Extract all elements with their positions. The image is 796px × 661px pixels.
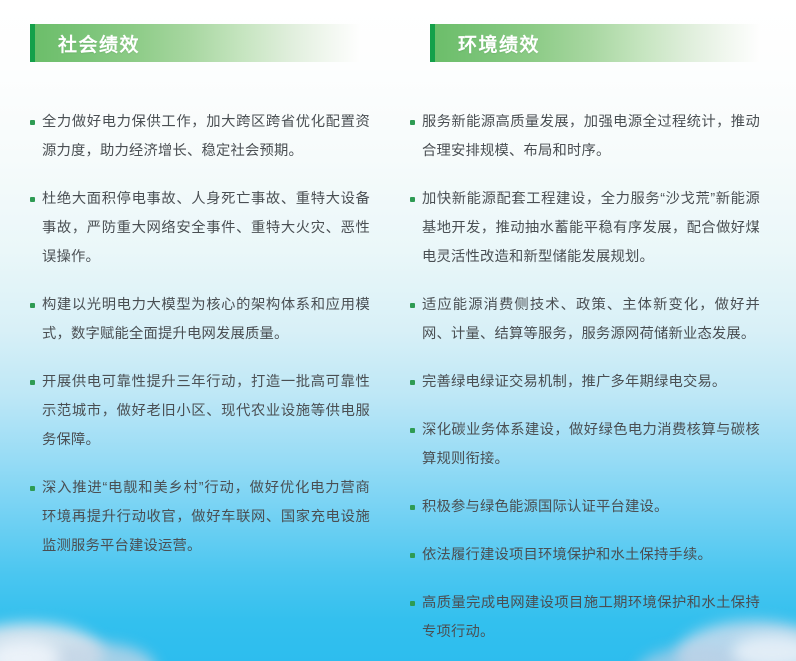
list-item: 加快新能源配套工程建设，全力服务“沙戈荒”新能源基地开发，推动抽水蓄能平稳有序发…	[410, 185, 760, 272]
section-header-environmental: 环境绩效	[430, 24, 760, 62]
list-item-text: 完善绿电绿证交易机制，推广多年期绿电交易。	[422, 374, 726, 390]
list-item-text: 深入推进“电靓和美乡村”行动，做好优化电力营商环境再提升行动收官，做好车联网、国…	[42, 480, 370, 554]
bullet-dot-icon	[410, 601, 415, 606]
column-social-performance: 社会绩效 全力做好电力保供工作，加大跨区跨省优化配置资源力度，助力经济增长、稳定…	[0, 0, 398, 661]
header-gradient-band: 社会绩效	[35, 24, 360, 62]
list-item-text: 服务新能源高质量发展，加强电源全过程统计，推动合理安排规模、布局和时序。	[422, 114, 760, 159]
bullet-dot-icon	[30, 380, 35, 385]
section-title-environmental: 环境绩效	[458, 30, 540, 57]
list-item-text: 依法履行建设项目环境保护和水土保持手续。	[422, 547, 712, 563]
list-item-text: 高质量完成电网建设项目施工期环境保护和水土保持专项行动。	[422, 595, 760, 640]
list-item: 服务新能源高质量发展，加强电源全过程统计，推动合理安排规模、布局和时序。	[410, 108, 760, 166]
bullet-dot-icon	[410, 553, 415, 558]
bullet-dot-icon	[410, 197, 415, 202]
bullet-list-environmental: 服务新能源高质量发展，加强电源全过程统计，推动合理安排规模、布局和时序。 加快新…	[410, 108, 760, 661]
bullet-list-social: 全力做好电力保供工作，加大跨区跨省优化配置资源力度，助力经济增长、稳定社会预期。…	[30, 108, 370, 561]
bullet-dot-icon	[410, 380, 415, 385]
list-item-text: 开展供电可靠性提升三年行动，打造一批高可靠性示范城市，做好老旧小区、现代农业设施…	[42, 374, 370, 448]
bullet-dot-icon	[410, 428, 415, 433]
list-item: 适应能源消费侧技术、政策、主体新变化，做好并网、计量、结算等服务，服务源网荷储新…	[410, 291, 760, 349]
bullet-dot-icon	[30, 303, 35, 308]
list-item: 深入推进“电靓和美乡村”行动，做好优化电力营商环境再提升行动收官，做好车联网、国…	[30, 474, 370, 561]
bullet-dot-icon	[410, 120, 415, 125]
list-item: 全力做好电力保供工作，加大跨区跨省优化配置资源力度，助力经济增长、稳定社会预期。	[30, 108, 370, 166]
bullet-dot-icon	[410, 303, 415, 308]
bullet-dot-icon	[410, 505, 415, 510]
list-item-text: 积极参与绿色能源国际认证平台建设。	[422, 499, 668, 515]
list-item-text: 深化碳业务体系建设，做好绿色电力消费核算与碳核算规则衔接。	[422, 422, 760, 467]
list-item: 开展供电可靠性提升三年行动，打造一批高可靠性示范城市，做好老旧小区、现代农业设施…	[30, 368, 370, 455]
bullet-dot-icon	[30, 120, 35, 125]
list-item-text: 适应能源消费侧技术、政策、主体新变化，做好并网、计量、结算等服务，服务源网荷储新…	[422, 297, 760, 342]
list-item: 杜绝大面积停电事故、人身死亡事故、重特大设备事故，严防重大网络安全事件、重特大火…	[30, 185, 370, 272]
bullet-dot-icon	[30, 486, 35, 491]
report-page: 社会绩效 全力做好电力保供工作，加大跨区跨省优化配置资源力度，助力经济增长、稳定…	[0, 0, 796, 661]
header-gradient-band: 环境绩效	[435, 24, 760, 62]
list-item: 完善绿电绿证交易机制，推广多年期绿电交易。	[410, 368, 760, 397]
list-item: 积极参与绿色能源国际认证平台建设。	[410, 493, 760, 522]
list-item-text: 全力做好电力保供工作，加大跨区跨省优化配置资源力度，助力经济增长、稳定社会预期。	[42, 114, 370, 159]
list-item: 深化碳业务体系建设，做好绿色电力消费核算与碳核算规则衔接。	[410, 416, 760, 474]
list-item-text: 构建以光明电力大模型为核心的架构体系和应用模式，数字赋能全面提升电网发展质量。	[42, 297, 370, 342]
section-title-social: 社会绩效	[58, 30, 140, 57]
list-item-text: 杜绝大面积停电事故、人身死亡事故、重特大设备事故，严防重大网络安全事件、重特大火…	[42, 191, 370, 265]
list-item: 构建以光明电力大模型为核心的架构体系和应用模式，数字赋能全面提升电网发展质量。	[30, 291, 370, 349]
bullet-dot-icon	[30, 197, 35, 202]
section-header-social: 社会绩效	[30, 24, 360, 62]
column-environmental-performance: 环境绩效 服务新能源高质量发展，加强电源全过程统计，推动合理安排规模、布局和时序…	[398, 0, 796, 661]
list-item-text: 加快新能源配套工程建设，全力服务“沙戈荒”新能源基地开发，推动抽水蓄能平稳有序发…	[422, 191, 760, 265]
list-item: 高质量完成电网建设项目施工期环境保护和水土保持专项行动。	[410, 589, 760, 647]
list-item: 依法履行建设项目环境保护和水土保持手续。	[410, 541, 760, 570]
